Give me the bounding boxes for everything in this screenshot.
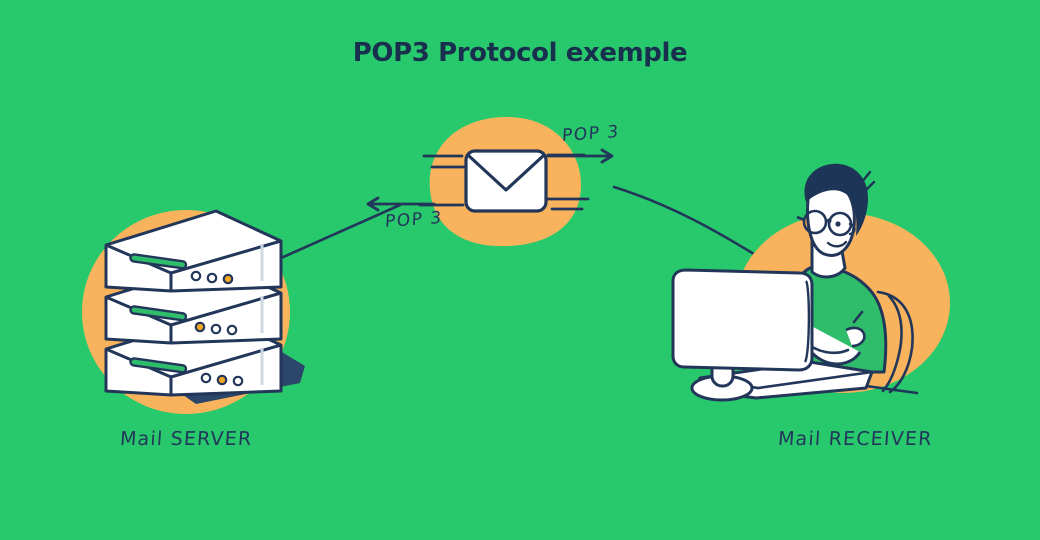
diagram-artwork <box>0 0 1040 540</box>
connection-server-to-envelope <box>281 205 400 258</box>
mail-server-label: Mail SERVER <box>119 428 253 450</box>
protocol-label-right: POP 3 <box>562 122 621 146</box>
mail-server-node[interactable] <box>82 210 305 414</box>
server-unit-top <box>106 211 281 291</box>
mail-receiver-label: Mail RECEIVER <box>777 428 933 450</box>
mail-receiver-node[interactable] <box>673 164 950 400</box>
illustration-canvas: POP3 Protocol exemple <box>0 0 1040 540</box>
monitor-shape <box>673 270 812 370</box>
connection-envelope-to-receiver <box>614 187 762 259</box>
envelope-icon <box>466 151 546 211</box>
protocol-label-left: POP 3 <box>385 208 444 232</box>
